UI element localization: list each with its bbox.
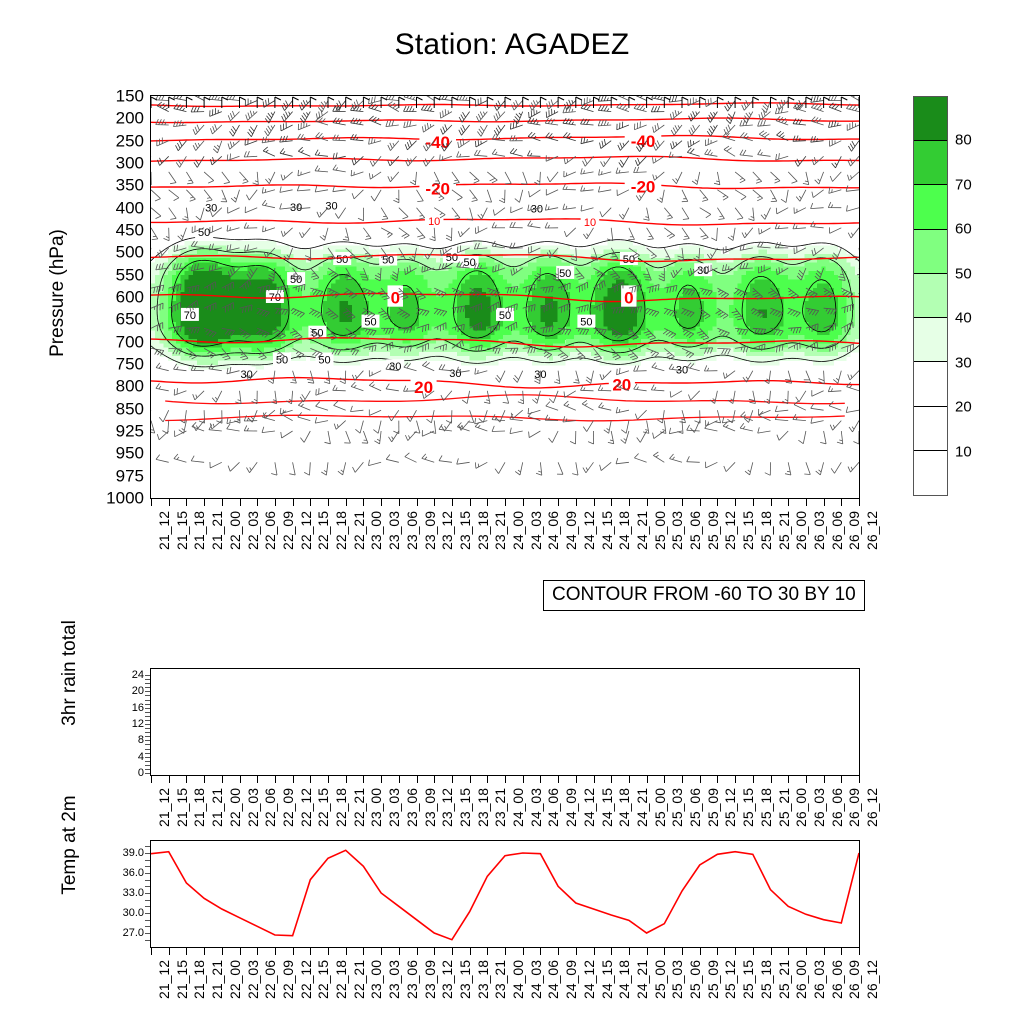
x-tick-label: 26_03 — [811, 511, 827, 550]
x-tick-label: 26_03 — [811, 788, 827, 827]
x-tick — [186, 948, 187, 955]
svg-text:-40: -40 — [425, 133, 450, 152]
x-tick-label: 24_21 — [634, 960, 650, 999]
temp-tick-label: 27.0 — [123, 927, 144, 939]
x-tick — [717, 499, 718, 506]
x-tick — [788, 776, 789, 783]
x-tick-label: 23_21 — [492, 511, 508, 550]
x-tick — [806, 499, 807, 506]
temp-axis-title: Temp at 2m — [59, 755, 81, 935]
x-tick-label: 25_12 — [722, 511, 738, 550]
colorbar-band — [914, 318, 947, 362]
x-tick-label: 25_18 — [758, 511, 774, 550]
x-tick-label: 22_15 — [315, 511, 331, 550]
x-tick — [824, 948, 825, 955]
svg-text:50: 50 — [198, 227, 210, 239]
x-tick — [682, 948, 683, 955]
x-tick-label: 22_06 — [262, 960, 278, 999]
x-tick-label: 23_15 — [457, 960, 473, 999]
x-tick — [771, 948, 772, 955]
x-tick-label: 23_15 — [457, 788, 473, 827]
rain-tick-label: 12 — [132, 718, 144, 730]
x-tick-label: 24_18 — [616, 960, 632, 999]
x-tick — [293, 776, 294, 783]
svg-text:0: 0 — [391, 289, 400, 308]
x-tick-label: 24_18 — [616, 511, 632, 550]
x-tick — [310, 776, 311, 783]
pressure-tick-label: 925 — [116, 423, 144, 440]
x-tick-label: 22_18 — [333, 511, 349, 550]
svg-text:50: 50 — [336, 254, 348, 266]
x-tick-label: 22_06 — [262, 511, 278, 550]
svg-text:30: 30 — [389, 361, 401, 373]
x-tick — [682, 499, 683, 506]
x-tick — [151, 776, 152, 783]
x-tick-label: 23_00 — [368, 960, 384, 999]
x-tick — [753, 776, 754, 783]
x-tick-label: 26_12 — [864, 511, 880, 550]
pressure-tick-label: 150 — [116, 88, 144, 105]
rain-tick-label: 16 — [132, 702, 144, 714]
x-tick — [328, 776, 329, 783]
svg-text:10: 10 — [584, 217, 596, 229]
x-tick-label: 25_06 — [687, 960, 703, 999]
x-tick — [417, 776, 418, 783]
x-tick — [700, 499, 701, 506]
svg-text:30: 30 — [449, 368, 461, 380]
x-tick-label: 22_21 — [351, 788, 367, 827]
x-tick — [505, 776, 506, 783]
x-tick — [399, 776, 400, 783]
x-tick — [717, 948, 718, 955]
upper-air-cross-section-panel[interactable]: 3050707050505050505030305050503050505030… — [150, 95, 860, 499]
x-tick — [629, 499, 630, 506]
rh-shading — [151, 241, 859, 370]
x-tick — [611, 499, 612, 506]
x-tick-label: 26_00 — [793, 511, 809, 550]
x-tick-label: 25_03 — [669, 511, 685, 550]
x-tick — [523, 499, 524, 506]
x-tick — [753, 499, 754, 506]
x-tick — [700, 776, 701, 783]
pressure-tick-label: 650 — [116, 311, 144, 328]
x-tick — [275, 776, 276, 783]
svg-text:50: 50 — [290, 274, 302, 286]
x-tick-label: 24_00 — [510, 511, 526, 550]
x-tick — [257, 499, 258, 506]
x-tick-label: 21_18 — [191, 788, 207, 827]
x-tick-label: 25_03 — [669, 960, 685, 999]
rain-axis-title: 3hr rain total — [59, 583, 81, 763]
x-tick-label: 22_09 — [280, 511, 296, 550]
x-tick-label: 25_21 — [776, 511, 792, 550]
x-tick — [594, 776, 595, 783]
pressure-axis-title: Pressure (hPa) — [47, 183, 69, 403]
svg-text:50: 50 — [364, 317, 376, 329]
x-tick-label: 25_15 — [740, 960, 756, 999]
x-tick-label: 23_12 — [439, 511, 455, 550]
x-tick — [310, 948, 311, 955]
x-tick-label: 25_00 — [652, 960, 668, 999]
svg-text:30: 30 — [325, 200, 337, 212]
rain-tick-label: 4 — [138, 751, 144, 763]
svg-text:-40: -40 — [631, 132, 656, 151]
x-tick — [346, 948, 347, 955]
x-tick — [841, 776, 842, 783]
x-tick-label: 24_09 — [563, 511, 579, 550]
x-tick-label: 24_09 — [563, 960, 579, 999]
x-tick-label: 21_18 — [191, 511, 207, 550]
x-tick — [204, 499, 205, 506]
x-tick-label: 24_06 — [545, 788, 561, 827]
x-tick-label: 24_21 — [634, 788, 650, 827]
pressure-tick-label: 450 — [116, 222, 144, 239]
colorbar-labels: 8070605040302010 — [955, 96, 995, 496]
x-tick-label: 23_03 — [386, 788, 402, 827]
x-tick-label: 25_15 — [740, 788, 756, 827]
x-tick — [452, 948, 453, 955]
x-tick — [381, 948, 382, 955]
x-tick — [204, 948, 205, 955]
x-tick-label: 21_15 — [174, 511, 190, 550]
x-tick-label: 21_21 — [209, 511, 225, 550]
x-tick — [558, 499, 559, 506]
x-tick-label: 26_09 — [846, 788, 862, 827]
x-tick-label: 26_06 — [829, 788, 845, 827]
x-tick-label: 26_06 — [829, 960, 845, 999]
x-tick — [505, 499, 506, 506]
x-tick — [275, 948, 276, 955]
colorbar-tick-label: 50 — [955, 265, 972, 282]
x-tick-label: 23_00 — [368, 511, 384, 550]
pressure-tick-label: 975 — [116, 467, 144, 484]
x-tick — [470, 948, 471, 955]
x-tick-label: 22_12 — [298, 788, 314, 827]
x-tick-label: 24_12 — [581, 960, 597, 999]
svg-text:10: 10 — [428, 216, 440, 228]
x-tick — [682, 776, 683, 783]
x-tick-label: 21_15 — [174, 960, 190, 999]
x-tick — [240, 948, 241, 955]
x-tick-label: 26_00 — [793, 788, 809, 827]
pressure-tick-label: 950 — [116, 445, 144, 462]
pressure-tick-label: 350 — [116, 177, 144, 194]
x-tick — [523, 776, 524, 783]
temp-line — [151, 850, 859, 939]
x-tick-label: 23_15 — [457, 511, 473, 550]
x-tick-label: 22_09 — [280, 788, 296, 827]
x-tick — [611, 948, 612, 955]
x-tick-label: 21_21 — [209, 788, 225, 827]
pressure-tick-label: 400 — [116, 199, 144, 216]
svg-text:50: 50 — [318, 355, 330, 367]
colorbar-tick-label: 20 — [955, 399, 972, 416]
x-tick — [841, 948, 842, 955]
x-tick — [381, 499, 382, 506]
x-tick — [487, 948, 488, 955]
svg-text:50: 50 — [446, 252, 458, 264]
x-tick-label: 24_03 — [528, 960, 544, 999]
x-tick — [346, 499, 347, 506]
x-tick — [346, 776, 347, 783]
x-tick-label: 23_18 — [475, 960, 491, 999]
x-tick — [257, 948, 258, 955]
x-tick-label: 24_06 — [545, 511, 561, 550]
x-tick — [540, 948, 541, 955]
rain-y-axis-labels: 24201612840 — [110, 668, 144, 776]
x-tick-label: 24_12 — [581, 788, 597, 827]
x-tick-label: 23_09 — [422, 788, 438, 827]
colorbar-tick-label: 70 — [955, 176, 972, 193]
x-tick-label: 24_18 — [616, 788, 632, 827]
x-tick — [257, 776, 258, 783]
x-tick — [452, 776, 453, 783]
x-tick-label: 23_09 — [422, 511, 438, 550]
x-tick-label: 23_21 — [492, 960, 508, 999]
x-tick — [594, 948, 595, 955]
svg-text:50: 50 — [559, 268, 571, 280]
x-tick — [417, 948, 418, 955]
x-tick-label: 25_12 — [722, 788, 738, 827]
x-tick — [417, 499, 418, 506]
main-x-ticks — [150, 499, 860, 506]
pressure-tick-label: 800 — [116, 378, 144, 395]
x-tick — [753, 948, 754, 955]
x-tick-label: 23_09 — [422, 960, 438, 999]
x-tick — [735, 776, 736, 783]
x-tick — [470, 776, 471, 783]
x-tick-label: 24_21 — [634, 511, 650, 550]
colorbar-band — [914, 141, 947, 185]
temp-x-axis-labels: 21_1221_1521_1821_2122_0022_0322_0622_09… — [150, 958, 860, 1032]
x-tick — [558, 776, 559, 783]
figure-root: Station: AGADEZ Pressure (hPa) 150200250… — [0, 0, 1024, 1024]
x-tick-label: 21_12 — [156, 511, 172, 550]
x-tick — [399, 948, 400, 955]
x-tick — [735, 948, 736, 955]
pressure-tick-label: 200 — [116, 110, 144, 127]
x-tick-label: 24_12 — [581, 511, 597, 550]
colorbar-tick-label: 30 — [955, 354, 972, 371]
temp-plot — [151, 841, 859, 947]
x-tick-label: 22_15 — [315, 960, 331, 999]
x-tick-label: 23_12 — [439, 788, 455, 827]
x-tick-label: 23_12 — [439, 960, 455, 999]
x-tick — [328, 499, 329, 506]
x-tick-label: 22_15 — [315, 788, 331, 827]
pressure-tick-label: 500 — [116, 244, 144, 261]
x-tick-label: 26_06 — [829, 511, 845, 550]
rain-x-ticks — [150, 776, 860, 783]
colorbar-tick-label: 10 — [955, 443, 972, 460]
x-tick — [222, 948, 223, 955]
x-tick — [470, 499, 471, 506]
x-tick — [434, 776, 435, 783]
x-tick-label: 26_00 — [793, 960, 809, 999]
x-tick — [293, 948, 294, 955]
x-tick-label: 21_15 — [174, 788, 190, 827]
x-tick-label: 25_00 — [652, 788, 668, 827]
x-tick-label: 22_00 — [227, 511, 243, 550]
x-tick-label: 24_15 — [599, 960, 615, 999]
pressure-tick-label: 600 — [116, 289, 144, 306]
x-tick — [629, 776, 630, 783]
pressure-tick-label: 250 — [116, 132, 144, 149]
svg-text:50: 50 — [276, 355, 288, 367]
temp-tick-label: 33.0 — [123, 887, 144, 899]
x-tick-label: 25_06 — [687, 788, 703, 827]
colorbar-band — [914, 97, 947, 141]
x-tick — [487, 499, 488, 506]
x-tick — [771, 776, 772, 783]
x-tick-label: 25_18 — [758, 788, 774, 827]
x-tick-label: 22_00 — [227, 788, 243, 827]
x-tick — [824, 776, 825, 783]
x-tick-label: 24_00 — [510, 960, 526, 999]
x-tick-label: 23_00 — [368, 788, 384, 827]
x-tick-label: 24_00 — [510, 788, 526, 827]
svg-text:30: 30 — [697, 265, 709, 277]
x-tick — [169, 948, 170, 955]
x-tick — [788, 948, 789, 955]
x-tick-label: 25_12 — [722, 960, 738, 999]
main-x-axis-labels: 21_1221_1521_1821_2122_0022_0322_0622_09… — [150, 509, 860, 583]
x-tick — [434, 948, 435, 955]
x-tick — [505, 948, 506, 955]
svg-text:70: 70 — [184, 310, 196, 322]
svg-text:50: 50 — [580, 317, 592, 329]
rain-tick-label: 24 — [132, 669, 144, 681]
x-tick — [806, 776, 807, 783]
top-level-wind-barbs — [151, 97, 859, 108]
temp-tick-label: 30.0 — [123, 907, 144, 919]
x-tick — [664, 776, 665, 783]
x-tick-label: 24_03 — [528, 788, 544, 827]
pressure-tick-label: 550 — [116, 266, 144, 283]
x-tick — [841, 499, 842, 506]
x-tick — [806, 948, 807, 955]
x-tick-label: 22_18 — [333, 960, 349, 999]
temp-at-2m-panel[interactable] — [150, 840, 860, 948]
x-tick — [576, 499, 577, 506]
x-tick — [771, 499, 772, 506]
x-tick — [363, 776, 364, 783]
contour-info-box: CONTOUR FROM -60 TO 30 BY 10 — [543, 580, 865, 611]
x-tick — [788, 499, 789, 506]
x-tick-label: 24_06 — [545, 960, 561, 999]
colorbar-tick-label: 40 — [955, 310, 972, 327]
x-tick — [452, 499, 453, 506]
x-tick-label: 25_09 — [705, 960, 721, 999]
x-tick-label: 26_09 — [846, 511, 862, 550]
rain-tick-label: 8 — [138, 734, 144, 746]
x-tick — [186, 499, 187, 506]
pressure-tick-label: 850 — [116, 400, 144, 417]
x-tick-label: 21_12 — [156, 788, 172, 827]
x-tick-label: 23_06 — [404, 511, 420, 550]
x-tick — [664, 499, 665, 506]
x-tick — [859, 499, 860, 506]
pressure-tick-label: 750 — [116, 356, 144, 373]
x-tick — [487, 776, 488, 783]
x-tick — [576, 776, 577, 783]
x-tick-label: 22_12 — [298, 960, 314, 999]
x-tick-label: 25_09 — [705, 788, 721, 827]
x-tick-label: 22_09 — [280, 960, 296, 999]
colorbar-band — [914, 185, 947, 229]
rain-plot — [151, 669, 859, 775]
x-tick-label: 24_09 — [563, 788, 579, 827]
colorbar-band — [914, 230, 947, 274]
x-tick — [611, 776, 612, 783]
pressure-tick-label: 700 — [116, 333, 144, 350]
svg-text:50: 50 — [499, 310, 511, 322]
x-tick — [275, 499, 276, 506]
colorbar-tick-label: 60 — [955, 221, 972, 238]
x-tick — [558, 948, 559, 955]
x-tick-label: 25_21 — [776, 960, 792, 999]
x-tick — [240, 776, 241, 783]
x-tick — [540, 499, 541, 506]
x-tick-label: 25_09 — [705, 511, 721, 550]
x-tick — [240, 499, 241, 506]
x-tick — [169, 776, 170, 783]
x-tick-label: 25_21 — [776, 788, 792, 827]
x-tick — [824, 499, 825, 506]
x-tick-label: 22_03 — [245, 788, 261, 827]
x-tick-label: 25_15 — [740, 511, 756, 550]
x-tick-label: 23_18 — [475, 788, 491, 827]
colorbar[interactable] — [913, 96, 948, 496]
x-tick-label: 25_06 — [687, 511, 703, 550]
x-tick — [222, 499, 223, 506]
x-tick — [310, 499, 311, 506]
cross-section-plot: 3050707050505050505030305050503050505030… — [151, 96, 859, 498]
rain-total-panel[interactable] — [150, 668, 860, 776]
x-tick-label: 23_18 — [475, 511, 491, 550]
x-tick-label: 25_00 — [652, 511, 668, 550]
svg-text:30: 30 — [240, 369, 252, 381]
colorbar-band — [914, 362, 947, 406]
x-tick — [540, 776, 541, 783]
x-tick — [664, 948, 665, 955]
x-tick-label: 25_18 — [758, 960, 774, 999]
svg-text:-20: -20 — [425, 180, 450, 199]
temp-x-ticks — [150, 948, 860, 955]
x-tick — [647, 499, 648, 506]
x-tick-label: 23_03 — [386, 511, 402, 550]
rain-tick-label: 0 — [138, 767, 144, 779]
x-tick — [169, 499, 170, 506]
rain-tick-label: 20 — [132, 685, 144, 697]
x-tick-label: 21_12 — [156, 960, 172, 999]
x-tick-label: 22_00 — [227, 960, 243, 999]
x-tick — [151, 499, 152, 506]
x-tick-label: 22_03 — [245, 511, 261, 550]
x-tick — [204, 776, 205, 783]
x-tick-label: 23_06 — [404, 960, 420, 999]
x-tick — [222, 776, 223, 783]
x-tick-label: 21_21 — [209, 960, 225, 999]
x-tick-label: 26_12 — [864, 960, 880, 999]
x-tick-label: 23_06 — [404, 788, 420, 827]
x-tick — [576, 948, 577, 955]
main-y-axis-labels: 1502002503003504004505005506006507007508… — [92, 95, 144, 499]
x-tick — [186, 776, 187, 783]
colorbar-band — [914, 407, 947, 451]
x-tick — [363, 948, 364, 955]
x-tick-label: 22_12 — [298, 511, 314, 550]
